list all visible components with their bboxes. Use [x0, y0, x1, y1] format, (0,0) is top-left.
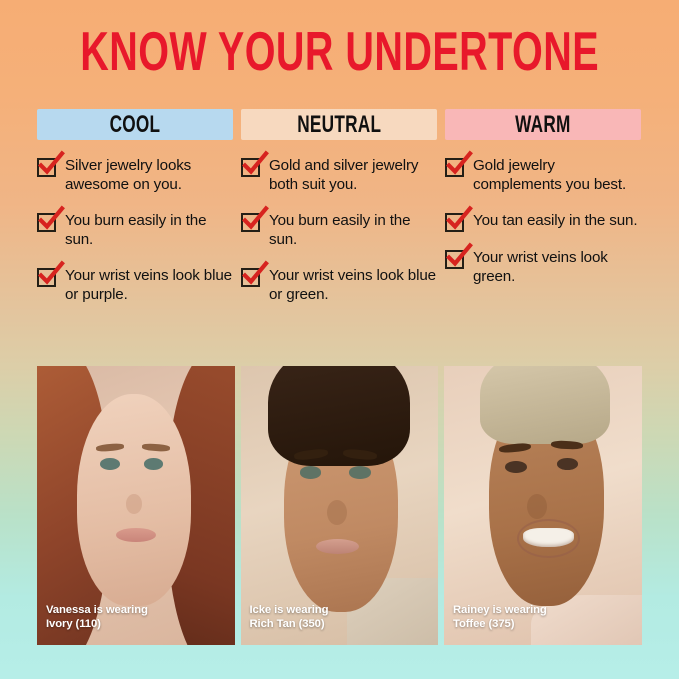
- model-photos: Vanessa is wearing Ivory (110) Icke is w…: [37, 366, 642, 645]
- checklist-item[interactable]: Gold and silver jewelry both suit you.: [241, 156, 437, 195]
- checklist-item-label: Gold and silver jewelry both suit you.: [269, 156, 437, 195]
- checkbox-checked[interactable]: [445, 250, 464, 269]
- hair: [268, 366, 410, 466]
- caption-line-2: Toffee (375): [453, 617, 547, 631]
- checklist-item-label: You burn easily in the sun.: [269, 211, 437, 250]
- caption-line-1: Rainey is wearing: [453, 603, 547, 617]
- column-header-neutral: NEUTRAL: [241, 109, 437, 140]
- checklist-item-label: Your wrist veins look green.: [473, 248, 641, 287]
- checklist-item-label: Your wrist veins look blue or purple.: [65, 266, 233, 305]
- checklist-item[interactable]: Silver jewelry looks awesome on you.: [37, 156, 233, 195]
- eye-right: [349, 466, 371, 478]
- checkbox-checked[interactable]: [37, 213, 56, 232]
- checklist-item-label: Your wrist veins look blue or green.: [269, 266, 437, 305]
- column-header-warm: WARM: [445, 109, 641, 140]
- nose: [327, 500, 347, 525]
- caption-line-1: Icke is wearing: [250, 603, 329, 617]
- checklist-item-label: You tan easily in the sun.: [473, 211, 637, 230]
- checklist-item-label: You burn easily in the sun.: [65, 211, 233, 250]
- column-header-label-cool: COOL: [110, 111, 161, 138]
- checkbox-checked[interactable]: [241, 268, 260, 287]
- check-icon: [242, 262, 268, 288]
- checklist-item[interactable]: Your wrist veins look green.: [445, 248, 641, 287]
- checklist-item-label: Silver jewelry looks awesome on you.: [65, 156, 233, 195]
- eye-right: [557, 458, 579, 470]
- hair: [480, 366, 610, 444]
- checklist-item[interactable]: You burn easily in the sun.: [241, 211, 437, 250]
- eye-right: [144, 458, 164, 470]
- check-icon: [242, 207, 268, 233]
- nose: [126, 494, 142, 514]
- column-warm: WARM Gold jewelry complements you best. …: [445, 109, 641, 321]
- checklist-item[interactable]: Your wrist veins look blue or green.: [241, 266, 437, 305]
- header: KNOW YOUR UNDERTONE: [0, 28, 679, 74]
- eye-left: [100, 458, 120, 470]
- photo-caption: Vanessa is wearing Ivory (110): [46, 603, 148, 631]
- column-header-label-neutral: NEUTRAL: [297, 111, 381, 138]
- check-icon: [38, 207, 64, 233]
- checklist-item[interactable]: You tan easily in the sun.: [445, 211, 641, 232]
- checklist-item[interactable]: You burn easily in the sun.: [37, 211, 233, 250]
- page-title: KNOW YOUR UNDERTONE: [80, 24, 599, 78]
- column-cool: COOL Silver jewelry looks awesome on you…: [37, 109, 233, 321]
- checklist-cool: Silver jewelry looks awesome on you. You…: [37, 156, 233, 305]
- check-icon: [446, 207, 472, 233]
- photo-caption: Rainey is wearing Toffee (375): [453, 603, 547, 631]
- check-icon: [38, 152, 64, 178]
- checkbox-checked[interactable]: [241, 213, 260, 232]
- check-icon: [446, 152, 472, 178]
- undertone-columns: COOL Silver jewelry looks awesome on you…: [37, 109, 642, 321]
- caption-line-1: Vanessa is wearing: [46, 603, 148, 617]
- checkbox-checked[interactable]: [445, 213, 464, 232]
- checkbox-checked[interactable]: [37, 268, 56, 287]
- eye-left: [505, 461, 527, 473]
- lips: [316, 539, 359, 554]
- checkbox-checked[interactable]: [37, 158, 56, 177]
- checklist-item[interactable]: Gold jewelry complements you best.: [445, 156, 641, 195]
- checklist-neutral: Gold and silver jewelry both suit you. Y…: [241, 156, 437, 305]
- caption-line-2: Rich Tan (350): [250, 617, 329, 631]
- check-icon: [242, 152, 268, 178]
- check-icon: [446, 244, 472, 270]
- photo-icke[interactable]: Icke is wearing Rich Tan (350): [241, 366, 439, 645]
- column-header-cool: COOL: [37, 109, 233, 140]
- check-icon: [38, 262, 64, 288]
- lips: [116, 528, 156, 542]
- teeth: [523, 528, 574, 548]
- nose: [527, 494, 547, 519]
- photo-vanessa[interactable]: Vanessa is wearing Ivory (110): [37, 366, 235, 645]
- checklist-item-label: Gold jewelry complements you best.: [473, 156, 641, 195]
- photo-rainey[interactable]: Rainey is wearing Toffee (375): [444, 366, 642, 645]
- checklist-item[interactable]: Your wrist veins look blue or purple.: [37, 266, 233, 305]
- column-neutral: NEUTRAL Gold and silver jewelry both sui…: [241, 109, 437, 321]
- caption-line-2: Ivory (110): [46, 617, 148, 631]
- checkbox-checked[interactable]: [445, 158, 464, 177]
- checklist-warm: Gold jewelry complements you best. You t…: [445, 156, 641, 287]
- checkbox-checked[interactable]: [241, 158, 260, 177]
- eye-left: [300, 466, 322, 478]
- column-header-label-warm: WARM: [515, 111, 571, 138]
- photo-caption: Icke is wearing Rich Tan (350): [250, 603, 329, 631]
